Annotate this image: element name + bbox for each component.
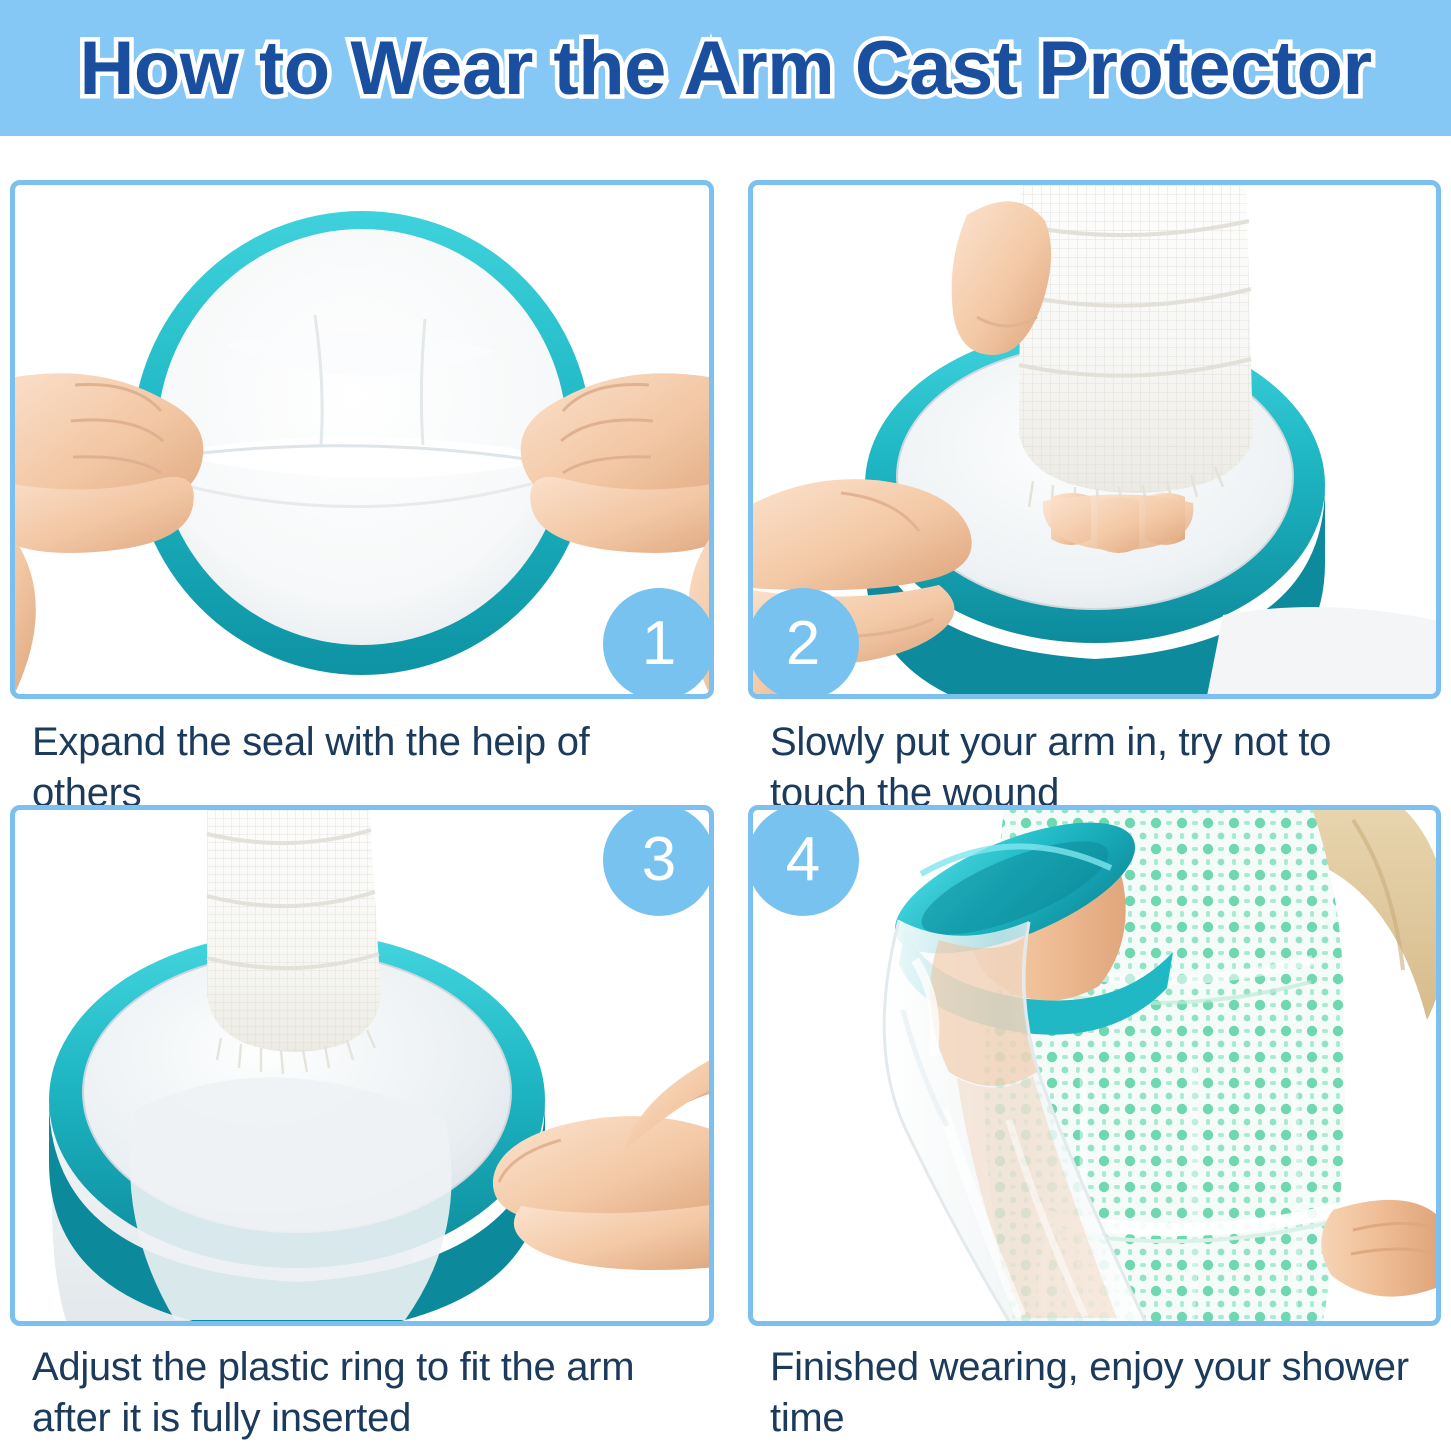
step-card-2: 2 Slowly put your arm in, try not to tou… — [748, 180, 1441, 802]
header-banner: How to Wear the Arm Cast Protector — [0, 0, 1451, 136]
step-badge-2[interactable]: 2 — [748, 588, 859, 699]
illustration-expand-seal — [15, 185, 709, 694]
step-2-photo: 2 — [748, 180, 1441, 699]
page-title: How to Wear the Arm Cast Protector — [79, 25, 1371, 112]
step-card-1: 1 Expand the seal with the heip of other… — [10, 180, 714, 802]
step-caption-4: Finished wearing, enjoy your shower time — [748, 1342, 1441, 1444]
steps-grid: 1 Expand the seal with the heip of other… — [0, 140, 1451, 1431]
step-badge-3[interactable]: 3 — [603, 805, 714, 916]
step-badge-1[interactable]: 1 — [603, 588, 714, 699]
illustration-finished-wearing — [753, 810, 1436, 1321]
step-1-photo: 1 — [10, 180, 714, 699]
step-caption-3: Adjust the plastic ring to fit the arm a… — [10, 1342, 714, 1444]
step-card-4: 4 Finished wearing, enjoy your shower ti… — [748, 805, 1441, 1415]
step-card-3: 3 Adjust the plastic ring to fit the arm… — [10, 805, 714, 1415]
illustration-adjust-ring — [15, 810, 709, 1321]
step-4-photo: 4 — [748, 805, 1441, 1326]
step-badge-4[interactable]: 4 — [748, 805, 859, 916]
step-3-photo: 3 — [10, 805, 714, 1326]
illustration-insert-arm — [753, 185, 1436, 694]
bandaged-arm-3 — [207, 810, 381, 1074]
